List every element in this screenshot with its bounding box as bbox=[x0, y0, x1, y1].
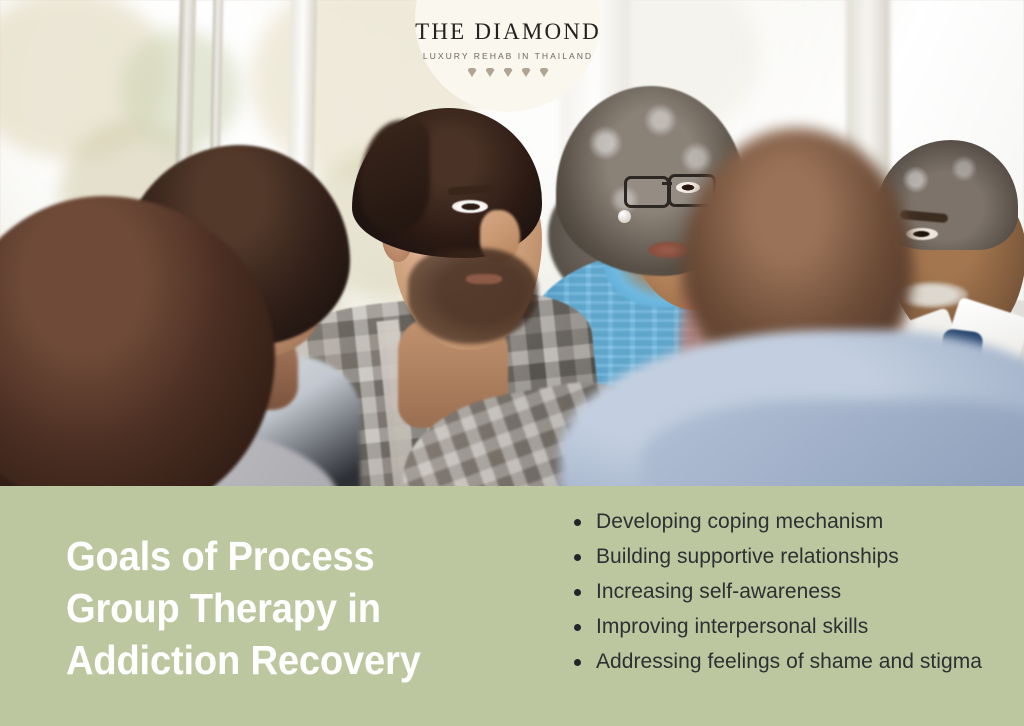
list-item: Increasing self-awareness bbox=[560, 578, 1014, 606]
eye bbox=[676, 182, 700, 193]
infographic-canvas: THE DIAMOND LUXURY REHAB IN THAILAND Goa… bbox=[0, 0, 1024, 726]
list-item: Developing coping mechanism bbox=[560, 508, 1014, 536]
brand-name: THE DIAMOND bbox=[415, 20, 601, 43]
eyeglasses-bridge bbox=[662, 182, 672, 185]
diamond-icon bbox=[468, 68, 477, 77]
diamond-icon bbox=[540, 68, 549, 77]
list-item: Building supportive relationships bbox=[560, 543, 1014, 571]
diamond-icon bbox=[504, 68, 513, 77]
diamond-glyph-row bbox=[468, 68, 549, 77]
eye bbox=[906, 228, 938, 240]
lips bbox=[466, 274, 502, 284]
blue-shirt-foreground-shadow bbox=[640, 400, 1024, 490]
eyeglasses-left-lens bbox=[624, 176, 670, 208]
headline-column: Goals of Process Group Therapy in Addict… bbox=[0, 486, 560, 726]
list-item: Addressing feelings of shame and stigma bbox=[560, 648, 1014, 676]
logo-badge[interactable]: THE DIAMOND LUXURY REHAB IN THAILAND bbox=[415, 0, 601, 112]
page-title: Goals of Process Group Therapy in Addict… bbox=[66, 530, 525, 686]
diamond-icon bbox=[486, 68, 495, 77]
eye bbox=[452, 200, 488, 213]
bullet-column: Developing coping mechanism Building sup… bbox=[560, 486, 1024, 726]
content-banner: Goals of Process Group Therapy in Addict… bbox=[0, 486, 1024, 726]
diamond-icon bbox=[522, 68, 531, 77]
goals-list: Developing coping mechanism Building sup… bbox=[560, 508, 1014, 676]
list-item: Improving interpersonal skills bbox=[560, 613, 1014, 641]
brand-tagline: LUXURY REHAB IN THAILAND bbox=[423, 51, 593, 61]
earring bbox=[618, 210, 631, 223]
